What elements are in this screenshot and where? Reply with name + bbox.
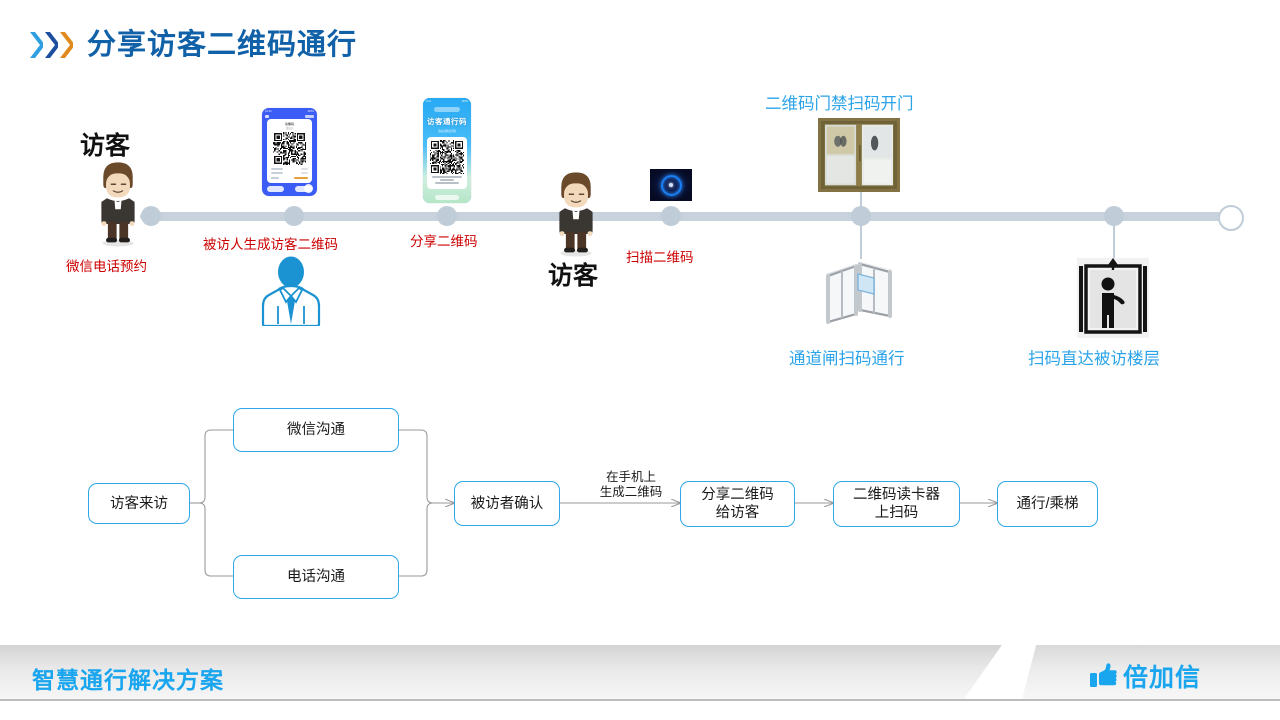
- timeline-dot-2[interactable]: [284, 206, 304, 226]
- flow-edge-label-line1: 在手机上: [586, 470, 676, 485]
- actor-label-visitor-left: 访客: [80, 126, 130, 162]
- phone2-status-right: 100%: [461, 100, 468, 103]
- flow-node-label-line2: 上扫码: [875, 504, 919, 522]
- phone2-refresh-button[interactable]: [435, 195, 459, 200]
- flow-node-phone[interactable]: 电话沟通: [233, 555, 399, 599]
- flow-edge-label-line2: 生成二维码: [586, 485, 676, 500]
- timeline-dot-6[interactable]: [1104, 206, 1124, 226]
- footer-baseline: [0, 699, 1280, 701]
- flow-node-reader[interactable]: 二维码读卡器 上扫码: [833, 481, 960, 527]
- timeline-stem-door: [860, 192, 862, 214]
- phone-mockup-share[interactable]: 9:41 100% 访客通行码 请在闸机扫码: [423, 98, 471, 203]
- speed-gate-turnstile-image: [818, 258, 912, 336]
- visitor-character-left: [90, 155, 146, 247]
- timeline-label-generate: 被访人生成访客二维码: [203, 233, 338, 253]
- timeline-label-share: 分享二维码: [410, 230, 478, 250]
- page-title-row: 分享访客二维码通行: [28, 28, 357, 62]
- scanner-ring-icon: [661, 175, 682, 196]
- phone1-status-left: 10:24: [265, 110, 272, 113]
- chevron-right-icon-2: [43, 28, 58, 62]
- phone1-qr-card: 访客码 请出示: [267, 119, 312, 183]
- flow-node-label-line2: 给访客: [716, 504, 760, 522]
- phone2-title: 访客通行码: [423, 116, 471, 127]
- flow-node-label: 被访者确认: [471, 495, 544, 513]
- timeline-label-elevator: 扫码直达被访楼层: [1028, 345, 1160, 369]
- chevron-group: [28, 28, 73, 62]
- scanner-core-icon: [669, 183, 673, 187]
- phone2-status-left: 9:41: [426, 100, 431, 103]
- phone1-card-sub: 请出示: [267, 126, 312, 130]
- phone2-statusbar: 9:41 100%: [423, 98, 471, 104]
- flow-node-label: 微信沟通: [287, 421, 345, 439]
- page-title: 分享访客二维码通行: [87, 31, 357, 60]
- host-person-icon: [258, 254, 324, 326]
- flow-node-label: 访客来访: [110, 495, 168, 513]
- brand-logo: 倍加信: [1090, 658, 1201, 694]
- elevator-icon: [1077, 258, 1149, 338]
- timeline-dot-4[interactable]: [661, 206, 681, 226]
- timeline-label-door: 二维码门禁扫码开门: [765, 90, 914, 114]
- chevron-right-icon-1: [28, 28, 43, 62]
- timeline-label-appointment: 微信电话预约: [66, 255, 147, 275]
- phone1-field-row-3: [267, 177, 312, 179]
- phone1-floating-action-icon[interactable]: [304, 184, 313, 193]
- chevron-right-icon-3: [58, 28, 73, 62]
- phone2-subtitle: 请在闸机扫码: [423, 129, 471, 133]
- flow-node-share[interactable]: 分享二维码 给访客: [680, 481, 795, 527]
- timeline-dot-3[interactable]: [437, 206, 457, 226]
- qr-scanner-device[interactable]: [650, 169, 692, 201]
- timeline-end-marker: [1218, 205, 1244, 231]
- phone2-qr-card: [427, 137, 467, 189]
- back-arrow-icon[interactable]: [265, 115, 269, 118]
- timeline-stem-gate: [860, 224, 862, 259]
- timeline-stem-elevator: [1113, 224, 1115, 259]
- phone1-field-row-2: [267, 172, 312, 174]
- slide-canvas: 分享访客二维码通行 访客 微信电话预约 10:24 100%: [0, 0, 1280, 720]
- actor-label-visitor-right: 访客: [548, 256, 598, 292]
- flow-node-label: 通行/乘梯: [1016, 495, 1078, 513]
- visitor-character-right: [548, 165, 604, 257]
- flow-node-label-line1: 二维码读卡器: [853, 486, 940, 504]
- flow-node-wechat[interactable]: 微信沟通: [233, 408, 399, 452]
- qr-code-image: [273, 132, 306, 165]
- timeline-label-gate: 通道闸扫码通行: [789, 345, 905, 369]
- phone1-field-row-1: [267, 168, 312, 170]
- flow-edge-label-generate: 在手机上 生成二维码: [586, 470, 676, 500]
- footer-tagline: 智慧通行解决方案: [32, 661, 224, 695]
- thumbs-up-icon: [1090, 663, 1118, 689]
- more-menu-icon[interactable]: [305, 115, 314, 118]
- phone-mockup-generate[interactable]: 10:24 100% 访客码 请出示: [262, 108, 317, 196]
- phone1-status-right: 100%: [307, 110, 314, 113]
- timeline-label-scan: 扫描二维码: [626, 246, 694, 266]
- qr-code-image: [430, 140, 464, 174]
- flow-node-visit[interactable]: 访客来访: [88, 483, 190, 524]
- flow-node-label: 电话沟通: [287, 568, 345, 586]
- flow-node-confirm[interactable]: 被访者确认: [454, 481, 560, 526]
- brand-name: 倍加信: [1123, 658, 1201, 694]
- phone2-navbar-pill[interactable]: [434, 107, 460, 112]
- glass-door-photo: [818, 118, 900, 192]
- flow-node-label-line1: 分享二维码: [701, 486, 774, 504]
- flow-node-pass[interactable]: 通行/乘梯: [997, 481, 1098, 527]
- phone1-save-button[interactable]: [267, 186, 284, 192]
